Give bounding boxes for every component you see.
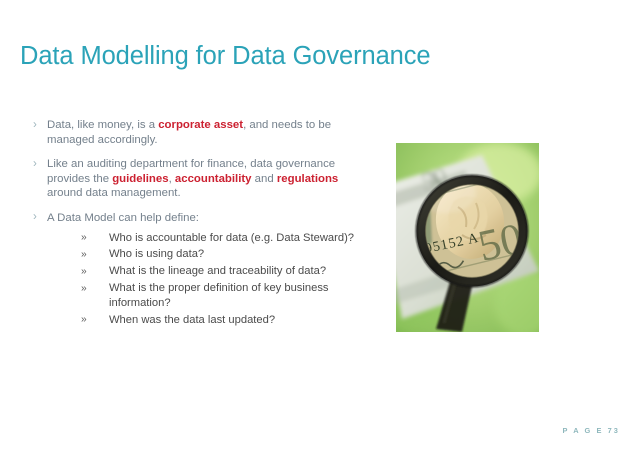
sub-list: » Who is accountable for data (e.g. Data… — [47, 231, 363, 327]
bullet-text-run: around data management. — [47, 187, 181, 199]
sub-bullet-text: Who is using data? — [109, 248, 204, 260]
bullet-marker-icon: › — [33, 210, 37, 225]
sub-bullet-marker-icon: » — [81, 248, 87, 262]
sub-list-item: » When was the data last updated? — [47, 313, 363, 327]
list-item: › Data, like money, is a corporate asset… — [33, 118, 363, 147]
bullet-emphasis: guidelines — [112, 173, 168, 185]
list-item: › Like an auditing department for financ… — [33, 157, 363, 201]
bullet-text-run: Data, like money, is a — [47, 119, 158, 131]
sub-bullet-marker-icon: » — [81, 282, 87, 296]
bullet-emphasis: regulations — [277, 173, 338, 185]
sub-bullet-text: When was the data last updated? — [109, 314, 275, 326]
sub-list-item: » Who is using data? — [47, 247, 363, 261]
slide-canvas: Data Modelling for Data Governance › Dat… — [0, 0, 638, 452]
sub-list-item: » Who is accountable for data (e.g. Data… — [47, 231, 363, 245]
bullet-text: Like an auditing department for finance,… — [47, 158, 338, 199]
bullet-marker-icon: › — [33, 118, 37, 133]
sub-list-item: » What is the lineage and traceability o… — [47, 264, 363, 278]
sub-bullet-marker-icon: » — [81, 313, 87, 327]
page-number-footer: P A G E73 — [562, 426, 620, 435]
sub-bullet-marker-icon: » — [81, 231, 87, 245]
list-item: › A Data Model can help define: » Who is… — [33, 211, 363, 327]
sub-bullet-text: What is the proper definition of key bus… — [109, 282, 329, 308]
bullet-marker-icon: › — [33, 157, 37, 172]
content-body: › Data, like money, is a corporate asset… — [33, 118, 363, 327]
bullet-emphasis: accountability — [175, 173, 252, 185]
page-label: P A G E — [562, 426, 603, 435]
magnifying-glass-banknote-photo: 50 — [396, 143, 539, 332]
sub-list-item: » What is the proper definition of key b… — [47, 281, 363, 310]
bullet-text: A Data Model can help define: — [47, 212, 199, 224]
sub-bullet-text: Who is accountable for data (e.g. Data S… — [109, 232, 354, 244]
bullet-text-run: and — [252, 173, 277, 185]
bullet-text: Data, like money, is a corporate asset, … — [47, 119, 331, 146]
page-title: Data Modelling for Data Governance — [20, 41, 431, 71]
bullet-emphasis: corporate asset — [158, 119, 243, 131]
sub-bullet-text: What is the lineage and traceability of … — [109, 265, 326, 277]
page-number: 73 — [608, 426, 620, 435]
sub-bullet-marker-icon: » — [81, 265, 87, 279]
photo-illustration: 50 — [396, 143, 539, 332]
